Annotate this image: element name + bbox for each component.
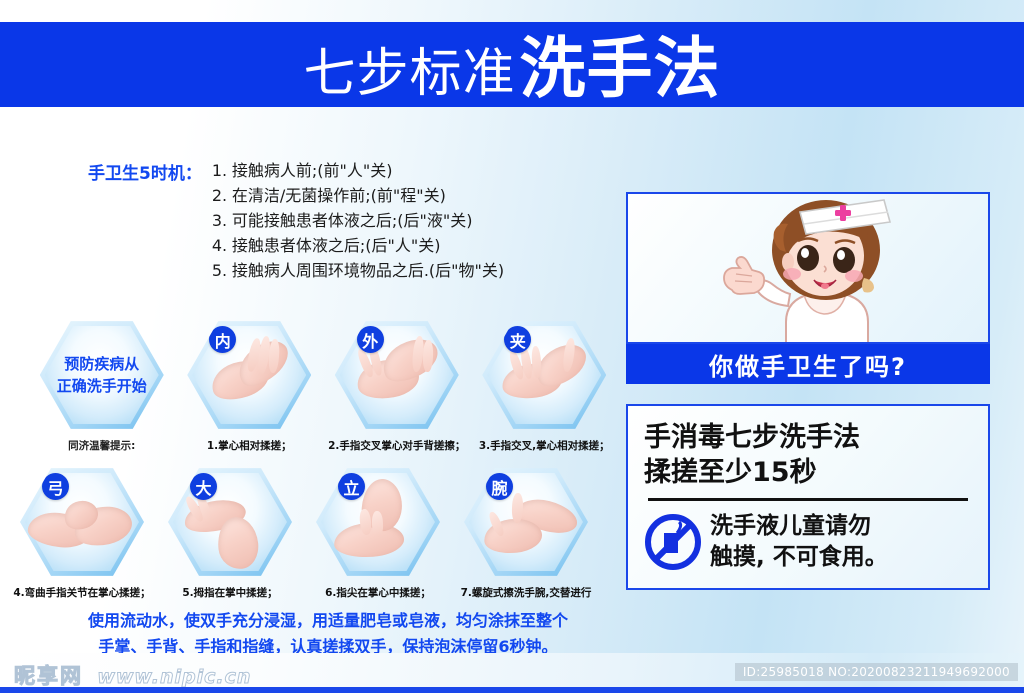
step-badge: 立	[338, 473, 365, 500]
five-moments-list: 1. 接触病人前;(前"人"关) 2. 在清洁/无菌操作前;(前"程"关) 3.…	[212, 158, 504, 283]
hand-illustration-fingertips	[316, 467, 440, 577]
list-item: 2. 在清洁/无菌操作前;(前"程"关)	[212, 183, 504, 208]
list-item: 3. 可能接触患者体液之后;(后"液"关)	[212, 208, 504, 233]
footer-accent-bar	[0, 687, 1024, 693]
step-badge: 外	[357, 326, 384, 353]
hex-cell-intro: 预防疾病从 正确洗手开始 同济温馨提示:	[28, 320, 176, 453]
step-caption: 4.弯曲手指关节在掌心揉搓；	[13, 585, 150, 600]
hexagon-step-2: 外	[335, 320, 459, 430]
list-item: 5. 接触病人周围环境物品之后.(后"物"关)	[212, 258, 504, 283]
list-item-text: 接触病人周围环境物品之后.(后"物"关)	[232, 258, 504, 283]
nurse-banner-text: 你做手卫生了吗?	[709, 347, 907, 382]
list-item: 1. 接触病人前;(前"人"关)	[212, 158, 504, 183]
warning-row: 洗手液儿童请勿 触摸, 不可食用。	[644, 511, 972, 573]
hex-cell-step-6: 立 6.指尖在掌心中揉搓；	[304, 467, 452, 600]
hexagon-step-6: 立	[316, 467, 440, 577]
five-moments-block: 手卫生5时机： 1. 接触病人前;(前"人"关) 2. 在清洁/无菌操作前;(前…	[88, 158, 504, 283]
intro-caption: 同济温馨提示:	[68, 438, 135, 453]
five-moments-label: 手卫生5时机：	[88, 158, 202, 283]
divider	[648, 498, 968, 501]
list-item-number: 5.	[212, 258, 232, 283]
step-caption: 2.手指交叉掌心对手背搓擦；	[328, 438, 465, 453]
title-banner: 七步标准 洗手法	[0, 22, 1024, 107]
hand-illustration-palm-to-palm	[187, 320, 311, 430]
step-badge: 弓	[42, 473, 69, 500]
hex-cell-step-3: 夹 3.手指交叉,掌心相对揉搓；	[471, 320, 619, 453]
title-part-1: 七步标准	[303, 31, 515, 106]
watermark-url: www.nipic.cn	[97, 666, 251, 688]
nurse-cartoon-icon	[628, 194, 990, 344]
hex-cell-step-2: 外 2.手指交叉掌心对手背搓擦；	[323, 320, 471, 453]
hex-cell-step-7: 腕 7.螺旋式擦洗手腕,交替进行	[452, 467, 600, 600]
site-watermark: 昵享网 www.nipic.cn	[14, 660, 251, 690]
step-caption: 1.掌心相对揉搓；	[207, 438, 292, 453]
list-item-text: 在清洁/无菌操作前;(前"程"关)	[232, 183, 446, 208]
bottom-note-line-1: 使用流动水，使双手充分浸湿，用适量肥皂或皂液，均匀涂抹至整个	[38, 608, 618, 634]
hex-cell-step-1: 内 1.掌心相对揉搓；	[176, 320, 324, 453]
list-item-number: 1.	[212, 158, 232, 183]
hex-row-2: 弓 4.弯曲手指关节在掌心揉搓； 大 5.拇指在掌中揉搓；	[8, 467, 618, 600]
list-item: 4. 接触患者体液之后;(后"人"关)	[212, 233, 504, 258]
hand-illustration-knuckles	[20, 467, 144, 577]
hand-illustration-interlace-dorsum	[335, 320, 459, 430]
hex-cell-step-5: 大 5.拇指在掌中揉搓；	[156, 467, 304, 600]
info-title-line-2: 揉搓至少15秒	[644, 455, 972, 490]
info-panel-title: 手消毒七步洗手法 揉搓至少15秒	[644, 420, 972, 490]
handwash-step-grid: 预防疾病从 正确洗手开始 同济温馨提示: 内	[28, 320, 618, 600]
intro-line-2: 正确洗手开始	[57, 375, 147, 397]
list-item-text: 可能接触患者体液之后;(后"液"关)	[232, 208, 473, 233]
title-part-2: 洗手法	[520, 15, 721, 111]
hexagon-step-7: 腕	[464, 467, 588, 577]
hexagon-step-3: 夹	[482, 320, 606, 430]
image-id-tag: ID:25985018 NO:20200823211949692000	[735, 663, 1018, 681]
hand-illustration-wrist	[464, 467, 588, 577]
no-drink-icon	[644, 513, 702, 571]
warning-line-1: 洗手液儿童请勿	[710, 511, 888, 542]
hexagon-step-5: 大	[168, 467, 292, 577]
step-caption: 5.拇指在掌中揉搓；	[182, 585, 277, 600]
hexagon-step-1: 内	[187, 320, 311, 430]
step-badge: 腕	[486, 473, 513, 500]
hex-row-1: 预防疾病从 正确洗手开始 同济温馨提示: 内	[28, 320, 618, 453]
step-caption: 7.螺旋式擦洗手腕,交替进行	[461, 585, 592, 600]
watermark-logo-text: 昵享网	[14, 664, 83, 688]
step-caption: 3.手指交叉,掌心相对揉搓；	[479, 438, 610, 453]
hexagon-intro: 预防疾病从 正确洗手开始	[40, 320, 164, 430]
hand-illustration-interlace-palms	[482, 320, 606, 430]
hexagon-step-4: 弓	[20, 467, 144, 577]
intro-text: 预防疾病从 正确洗手开始	[57, 353, 147, 397]
nurse-question-banner: 你做手卫生了吗?	[626, 344, 990, 384]
list-item-number: 3.	[212, 208, 232, 233]
intro-line-1: 预防疾病从	[57, 353, 147, 375]
list-item-text: 接触患者体液之后;(后"人"关)	[232, 233, 441, 258]
warning-text: 洗手液儿童请勿 触摸, 不可食用。	[710, 511, 888, 573]
disinfection-info-panel: 手消毒七步洗手法 揉搓至少15秒 洗手液儿童请勿 触摸, 不可食用。	[626, 404, 990, 590]
list-item-number: 4.	[212, 233, 232, 258]
nurse-illustration-panel	[626, 192, 990, 344]
warning-line-2: 触摸, 不可食用。	[710, 542, 888, 573]
hex-cell-step-4: 弓 4.弯曲手指关节在掌心揉搓；	[8, 467, 156, 600]
info-title-line-1: 手消毒七步洗手法	[644, 420, 972, 455]
step-caption: 6.指尖在掌心中揉搓；	[325, 585, 431, 600]
list-item-number: 2.	[212, 183, 232, 208]
poster-canvas: 七步标准 洗手法 手卫生5时机： 1. 接触病人前;(前"人"关) 2. 在清洁…	[0, 0, 1024, 693]
list-item-text: 接触病人前;(前"人"关)	[232, 158, 393, 183]
step-badge: 大	[190, 473, 217, 500]
hand-illustration-thumb	[168, 467, 292, 577]
page-title: 七步标准 洗手法	[303, 15, 720, 111]
